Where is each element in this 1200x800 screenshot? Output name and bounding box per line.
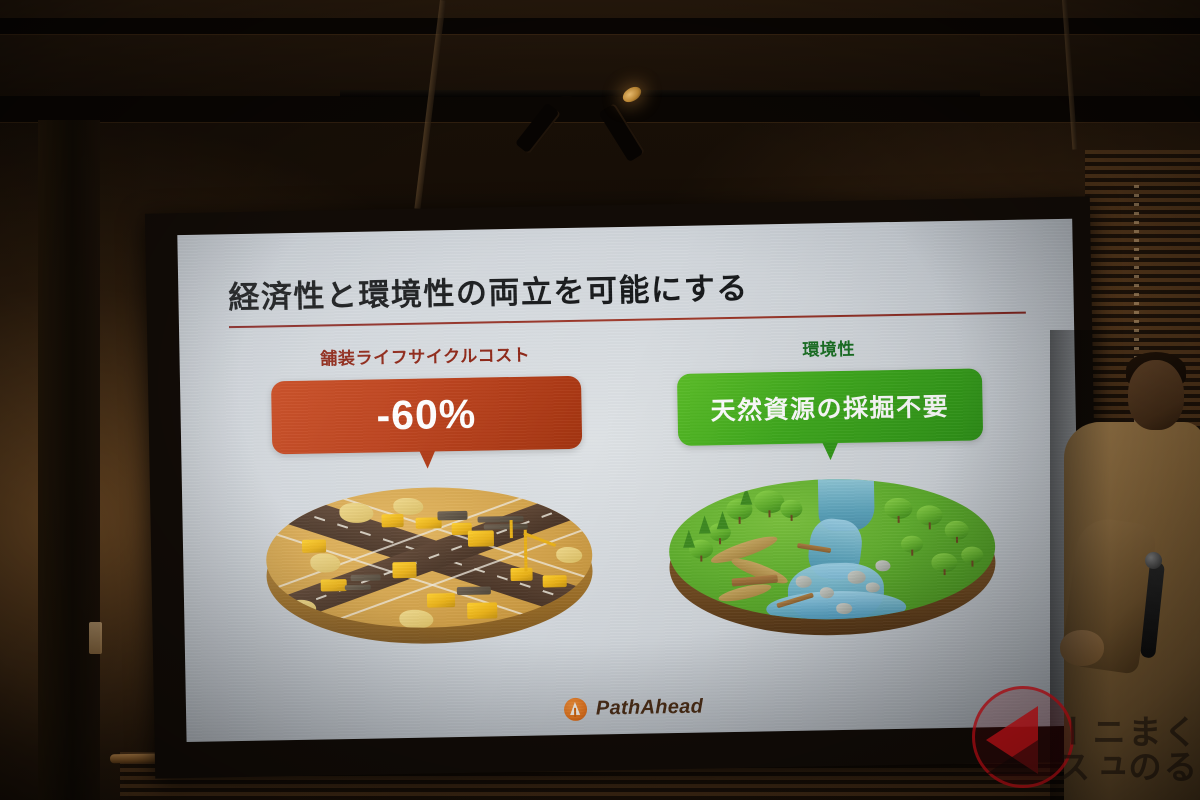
nature-disc	[666, 470, 999, 644]
tree	[781, 500, 803, 520]
tree	[901, 535, 923, 555]
pipe-stack	[477, 516, 523, 523]
barrier	[344, 585, 370, 590]
callout-environment-pointer	[822, 442, 838, 460]
projection-screen: 経済性と環境性の両立を可能にする 舗装ライフサイクルコスト -60%	[145, 196, 1100, 778]
slide: 経済性と環境性の両立を可能にする 舗装ライフサイクルコスト -60%	[177, 219, 1081, 742]
dump-truck	[468, 530, 494, 546]
presenter-head	[1128, 360, 1184, 430]
column-label-environment: 環境性	[802, 335, 855, 361]
tree	[932, 553, 958, 575]
ceiling-beam-lower	[0, 96, 1200, 122]
watermark: くるまのニュース	[970, 680, 1200, 800]
crane-mast	[509, 520, 512, 538]
column-label-cost: 舗装ライフサイクルコスト	[320, 341, 530, 370]
excavator	[381, 514, 403, 527]
conifer-tree	[683, 530, 695, 548]
ceiling-beam-upper	[0, 18, 1200, 34]
material-stack	[437, 511, 467, 521]
lighting-track-rail	[340, 90, 980, 97]
loader	[302, 539, 326, 552]
dump-truck	[467, 602, 497, 619]
conifer-tree	[717, 511, 729, 529]
sand-pile	[393, 498, 423, 516]
excavator	[542, 575, 566, 587]
watermark-chevron-shadow-icon	[986, 740, 1038, 774]
barrier	[350, 574, 380, 581]
illustration-nature-scene	[666, 462, 999, 658]
concrete-slab	[457, 586, 491, 595]
sand-pile	[399, 609, 433, 629]
conifer-tree	[740, 487, 752, 505]
sand-pile	[556, 547, 582, 563]
pipe-stack	[483, 524, 527, 530]
presenter-hand	[1060, 630, 1104, 666]
excavator	[427, 593, 455, 608]
tree	[961, 546, 983, 566]
sand-pile	[289, 600, 316, 616]
column-cost: 舗装ライフサイクルコスト -60%	[223, 339, 632, 667]
column-environment: 環境性 天然資源の採掘不要	[627, 332, 1036, 660]
microphone-head-icon	[1145, 552, 1162, 569]
callout-environment: 天然資源の採掘不要	[677, 368, 983, 446]
photo-of-presentation-room: 経済性と環境性の両立を可能にする 舗装ライフサイクルコスト -60%	[0, 0, 1200, 800]
sand-pile	[339, 503, 373, 524]
conifer-tree	[699, 515, 711, 533]
pathahead-logo-icon	[564, 698, 587, 721]
door-frame-left	[38, 120, 100, 800]
watermark-text: くるまのニュース	[1051, 686, 1194, 784]
callout-cost-pointer	[419, 450, 435, 468]
callout-cost-value: -60%	[376, 391, 477, 440]
construction-disc	[263, 479, 596, 653]
wall-light-switch[interactable]	[89, 622, 102, 654]
slide-title: 経済性と環境性の両立を可能にする	[228, 258, 1030, 318]
brand-name: PathAhead	[596, 696, 704, 721]
illustration-road-construction	[262, 471, 595, 667]
boulder	[876, 560, 891, 571]
callout-environment-text: 天然資源の採掘不要	[710, 387, 949, 427]
tree	[945, 521, 969, 543]
slide-footer: PathAhead	[186, 689, 1081, 728]
callout-cost: -60%	[271, 376, 582, 455]
grader	[320, 579, 346, 591]
drill-rig	[510, 568, 532, 581]
sand-pile	[310, 553, 340, 573]
tree	[884, 498, 912, 523]
bulldozer	[392, 562, 416, 578]
slide-columns: 舗装ライフサイクルコスト -60%	[223, 332, 1036, 668]
tree	[917, 505, 943, 528]
screen-surface: 経済性と環境性の両立を可能にする 舗装ライフサイクルコスト -60%	[177, 219, 1081, 742]
